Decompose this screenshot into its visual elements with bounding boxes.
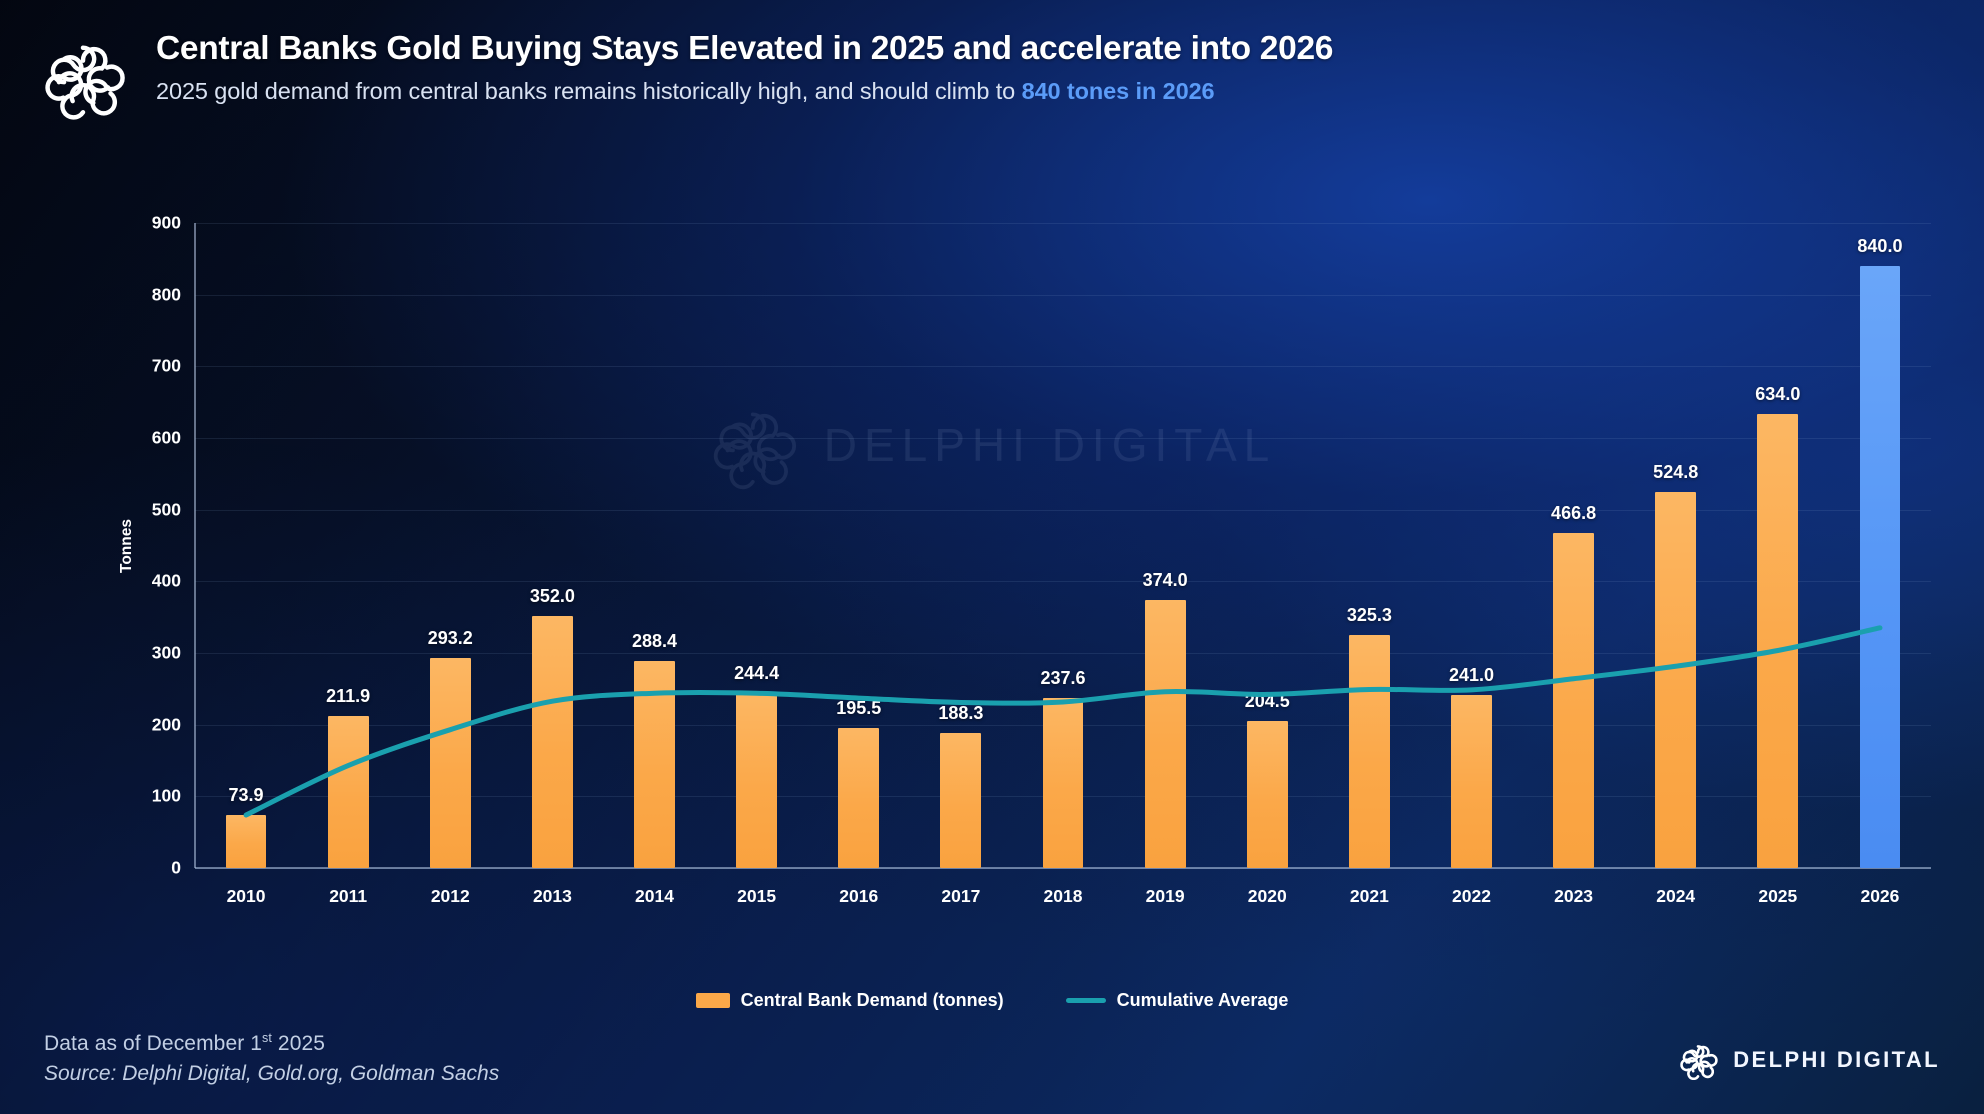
bar[interactable] bbox=[838, 728, 879, 868]
bar-value-label: 237.6 bbox=[1040, 668, 1085, 689]
x-axis-tick-label: 2013 bbox=[533, 886, 572, 907]
x-axis-tick-label: 2011 bbox=[329, 886, 367, 907]
note-suffix: 2025 bbox=[272, 1032, 325, 1055]
note-ordinal-suffix: st bbox=[262, 1031, 272, 1045]
infographic-root: Central Banks Gold Buying Stays Elevated… bbox=[0, 0, 1984, 1114]
x-axis-tick-label: 2022 bbox=[1452, 886, 1491, 907]
bar-value-label: 293.2 bbox=[428, 628, 473, 649]
bar[interactable] bbox=[1553, 533, 1594, 868]
x-axis-tick-label: 2017 bbox=[941, 886, 980, 907]
bar[interactable] bbox=[940, 733, 981, 868]
legend-item[interactable]: Cumulative Average bbox=[1066, 990, 1289, 1011]
bar-value-label: 466.8 bbox=[1551, 503, 1596, 524]
x-axis-tick-label: 2021 bbox=[1350, 886, 1389, 907]
legend-bar-swatch-icon bbox=[696, 993, 730, 1008]
y-axis-tick-label: 500 bbox=[152, 499, 181, 520]
bar[interactable] bbox=[736, 693, 777, 868]
legend-label: Cumulative Average bbox=[1117, 990, 1289, 1011]
source-line: Source: Delphi Digital, Gold.org, Goldma… bbox=[44, 1062, 499, 1086]
header-text-block: Central Banks Gold Buying Stays Elevated… bbox=[156, 28, 1333, 105]
y-axis-tick-label: 100 bbox=[152, 786, 181, 807]
y-axis-tick-label: 600 bbox=[152, 428, 181, 449]
x-axis-tick-label: 2018 bbox=[1044, 886, 1083, 907]
header: Central Banks Gold Buying Stays Elevated… bbox=[40, 28, 1944, 132]
x-axis-tick-label: 2014 bbox=[635, 886, 674, 907]
delphi-knot-logo-icon bbox=[1678, 1040, 1718, 1080]
x-axis-tick-label: 2020 bbox=[1248, 886, 1287, 907]
y-axis-label: Tonnes bbox=[118, 519, 136, 573]
y-axis-tick-label: 800 bbox=[152, 284, 181, 305]
x-axis-tick-label: 2019 bbox=[1146, 886, 1185, 907]
bar-value-label: 73.9 bbox=[229, 785, 264, 806]
x-axis-tick-label: 2023 bbox=[1554, 886, 1593, 907]
plot-region: 0100200300400500600700800900 73.9211.929… bbox=[195, 223, 1931, 868]
subtitle-prefix: 2025 gold demand from central banks rema… bbox=[156, 78, 1022, 104]
bar[interactable] bbox=[1247, 721, 1288, 868]
chart-area: Tonnes DELPHI DIGITAL 010020030040050060… bbox=[0, 178, 1984, 978]
gridline bbox=[195, 295, 1931, 296]
gridline bbox=[195, 366, 1931, 367]
bar[interactable] bbox=[532, 616, 573, 868]
bar[interactable] bbox=[634, 661, 675, 868]
gridline bbox=[195, 868, 1931, 869]
bar-value-label: 352.0 bbox=[530, 586, 575, 607]
legend-label: Central Bank Demand (tonnes) bbox=[741, 990, 1004, 1011]
bar[interactable] bbox=[328, 716, 369, 868]
bar[interactable] bbox=[1655, 492, 1696, 868]
legend-item[interactable]: Central Bank Demand (tonnes) bbox=[696, 990, 1004, 1011]
bar-value-label: 241.0 bbox=[1449, 665, 1494, 686]
x-axis-tick-label: 2025 bbox=[1758, 886, 1797, 907]
x-axis-tick-label: 2026 bbox=[1860, 886, 1899, 907]
bar[interactable] bbox=[1043, 698, 1084, 868]
bar-value-label: 634.0 bbox=[1755, 384, 1800, 405]
x-axis-tick-label: 2012 bbox=[431, 886, 470, 907]
bar[interactable] bbox=[430, 658, 471, 868]
x-axis-tick-label: 2010 bbox=[227, 886, 266, 907]
x-axis-tick-label: 2016 bbox=[839, 886, 878, 907]
bar[interactable] bbox=[226, 815, 267, 868]
bar-value-label: 195.5 bbox=[836, 698, 881, 719]
y-axis-tick-label: 400 bbox=[152, 571, 181, 592]
note-prefix: Data as of December 1 bbox=[44, 1032, 262, 1055]
x-axis-tick-label: 2024 bbox=[1656, 886, 1695, 907]
bar-value-label: 288.4 bbox=[632, 631, 677, 652]
page-subtitle: 2025 gold demand from central banks rema… bbox=[156, 78, 1333, 105]
brand-text: DELPHI DIGITAL bbox=[1733, 1047, 1940, 1073]
bar-value-label: 188.3 bbox=[938, 703, 983, 724]
subtitle-highlight: 840 tones in 2026 bbox=[1022, 78, 1215, 104]
brand-mark: DELPHI DIGITAL bbox=[1678, 1040, 1940, 1080]
gridline bbox=[195, 223, 1931, 224]
page-title: Central Banks Gold Buying Stays Elevated… bbox=[156, 28, 1333, 71]
bar[interactable] bbox=[1451, 695, 1492, 868]
bar[interactable] bbox=[1757, 414, 1798, 868]
y-axis-line bbox=[194, 223, 196, 868]
y-axis-tick-label: 900 bbox=[152, 213, 181, 234]
y-axis-tick-label: 0 bbox=[171, 858, 181, 879]
bar-value-label: 374.0 bbox=[1143, 570, 1188, 591]
y-axis-tick-label: 700 bbox=[152, 356, 181, 377]
footer: Data as of December 1st 2025 Source: Del… bbox=[44, 1031, 499, 1086]
delphi-knot-logo-icon bbox=[40, 34, 126, 120]
data-as-of-note: Data as of December 1st 2025 bbox=[44, 1031, 499, 1056]
bar-value-label: 524.8 bbox=[1653, 462, 1698, 483]
bar-value-label: 211.9 bbox=[326, 686, 370, 707]
y-axis-tick-label: 200 bbox=[152, 714, 181, 735]
y-axis-tick-label: 300 bbox=[152, 643, 181, 664]
bar-value-label: 325.3 bbox=[1347, 605, 1392, 626]
legend: Central Bank Demand (tonnes)Cumulative A… bbox=[0, 990, 1984, 1011]
bar-value-label: 840.0 bbox=[1857, 236, 1902, 257]
bar-value-label: 204.5 bbox=[1245, 691, 1290, 712]
gridline bbox=[195, 438, 1931, 439]
bar-value-label: 244.4 bbox=[734, 663, 779, 684]
legend-line-swatch-icon bbox=[1066, 998, 1106, 1003]
bar[interactable] bbox=[1145, 600, 1186, 868]
x-axis-tick-label: 2015 bbox=[737, 886, 776, 907]
bar-highlight[interactable] bbox=[1860, 266, 1901, 868]
bar[interactable] bbox=[1349, 635, 1390, 868]
